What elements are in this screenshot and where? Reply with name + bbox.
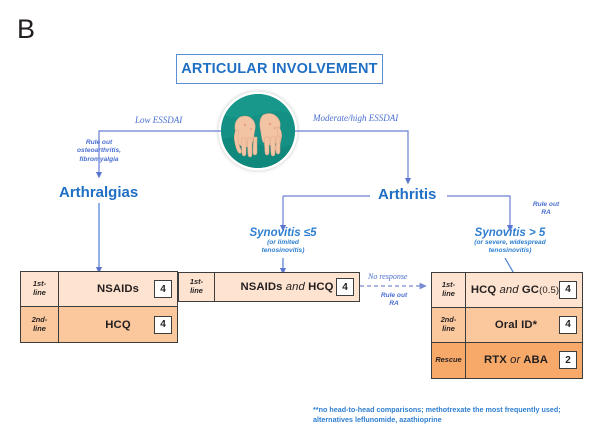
synovitis-high-sub: (or severe, widespread tenosinovitis) — [446, 239, 574, 255]
row-line-label-2: line — [442, 324, 455, 333]
row-line-label-1: Rescue — [435, 356, 461, 365]
row-drug-cell: RTX or ABA 2 — [466, 343, 582, 378]
no-response-sub-line-1: Rule out — [366, 292, 422, 300]
drug-part-post: HCQ — [308, 281, 333, 293]
hands-photo — [221, 94, 295, 168]
drug-dose: (0.5) — [539, 285, 559, 296]
rule-out-line-1: Rule out — [40, 139, 158, 147]
panel-letter: B — [17, 16, 35, 43]
synovitis-high-sub-line-2: tenosinovitis) — [446, 247, 574, 255]
table-synovitis-low: 1st- line NSAIDs and HCQ 4 — [178, 272, 360, 302]
table-row: 1st- line NSAIDs and HCQ 4 — [179, 273, 359, 301]
drug-conjunction: and — [500, 284, 519, 296]
synovitis-high-head: Synovitis > 5 — [446, 227, 574, 239]
drug-part-post: ABA — [523, 354, 548, 366]
evidence-score: 4 — [154, 316, 172, 334]
table-row: 2nd- line Oral ID* 4 — [432, 308, 582, 343]
drug-name: HCQ — [105, 319, 130, 331]
evidence-score: 2 — [559, 351, 577, 369]
footnote-line-2: alternatives leflunomide, azathioprine — [313, 415, 593, 425]
row-drug-cell: Oral ID* 4 — [466, 308, 582, 342]
hands-illustration — [221, 94, 295, 168]
drug-name: NSAIDs — [97, 283, 139, 295]
synovitis-low-sub-line-1: (or limited — [223, 239, 343, 247]
row-line-label-2: line — [33, 324, 46, 333]
drug-conjunction: or — [510, 354, 520, 366]
drug-name: Oral ID* — [495, 319, 553, 331]
evidence-score: 4 — [336, 278, 354, 296]
branch-label-high-essdai: Moderate/high ESSDAI — [313, 113, 398, 123]
rule-out-line-2: osteoarthritis, — [40, 147, 158, 155]
evidence-score: 4 — [559, 316, 577, 334]
row-line-label: 1st- line — [179, 273, 215, 301]
row-drug-cell: NSAIDs 4 — [59, 272, 177, 306]
footnote-line-1: **no head-to-head comparisons; methotrex… — [313, 405, 593, 415]
row-line-label: 1st- line — [432, 273, 466, 307]
branch-label-low-essdai: Low ESSDAI — [135, 115, 182, 125]
table-row: 1st- line HCQ and GC(0.5) 4 — [432, 273, 582, 308]
rule-out-ra-note-middle: Rule out RA — [366, 292, 422, 309]
row-line-label-2: line — [33, 288, 46, 297]
drug-part-post: GC — [522, 284, 539, 296]
synovitis-low-sub-line-2: tenosinovitis) — [223, 247, 343, 255]
table-row: 2nd- line HCQ 4 — [21, 307, 177, 342]
synovitis-high-group: Synovitis > 5 (or severe, widespread ten… — [446, 227, 574, 255]
title-box: ARTICULAR INVOLVEMENT — [176, 54, 383, 84]
table-row: 1st- line NSAIDs 4 — [21, 272, 177, 307]
rule-out-line-3: fibromyalgia — [40, 156, 158, 164]
table-row: Rescue RTX or ABA 2 — [432, 343, 582, 378]
row-line-label: 2nd- line — [432, 308, 466, 342]
drug-part-pre: RTX — [484, 354, 507, 366]
synovitis-high-sub-line-1: (or severe, widespread — [446, 239, 574, 247]
drug-name: RTX or ABA — [484, 354, 564, 366]
drug-name: NSAIDs and HCQ — [240, 281, 333, 293]
rule-out-osteoarthritis-note: Rule out osteoarthritis, fibromyalgia — [40, 139, 158, 164]
drug-part-pre: HCQ — [471, 284, 496, 296]
drug-part-pre: NSAIDs — [240, 281, 282, 293]
no-response-label: No response — [368, 272, 407, 281]
row-line-label-2: line — [190, 286, 203, 295]
row-drug-cell: HCQ and GC(0.5) 4 — [466, 273, 582, 307]
rule-out-ra-line-2: RA — [516, 209, 576, 217]
synovitis-low-group: Synovitis ≤5 (or limited tenosinovitis) — [223, 227, 343, 255]
node-arthritis: Arthritis — [378, 186, 436, 203]
synovitis-low-head: Synovitis ≤5 — [223, 227, 343, 239]
row-line-label: 2nd- line — [21, 307, 59, 342]
rule-out-ra-note-right: Rule out RA — [516, 201, 576, 218]
synovitis-low-sub: (or limited tenosinovitis) — [223, 239, 343, 255]
rule-out-ra-line-1: Rule out — [516, 201, 576, 209]
row-line-label: Rescue — [432, 343, 466, 378]
table-arthralgias: 1st- line NSAIDs 4 2nd- line HCQ 4 — [20, 271, 178, 343]
no-response-sub-line-2: RA — [366, 300, 422, 308]
table-synovitis-high: 1st- line HCQ and GC(0.5) 4 2nd- line — [431, 272, 583, 379]
diagram-canvas: B ARTICULAR INVOLVEMENT — [0, 0, 600, 448]
evidence-score: 4 — [559, 281, 577, 299]
row-line-label-2: line — [442, 289, 455, 298]
footnote: **no head-to-head comparisons; methotrex… — [313, 405, 593, 425]
page-title: ARTICULAR INVOLVEMENT — [181, 61, 377, 77]
evidence-score: 4 — [154, 280, 172, 298]
row-line-label: 1st- line — [21, 272, 59, 306]
drug-conjunction: and — [286, 281, 305, 293]
row-drug-cell: HCQ 4 — [59, 307, 177, 342]
node-arthralgias: Arthralgias — [59, 184, 138, 201]
row-drug-cell: NSAIDs and HCQ 4 — [215, 273, 359, 301]
